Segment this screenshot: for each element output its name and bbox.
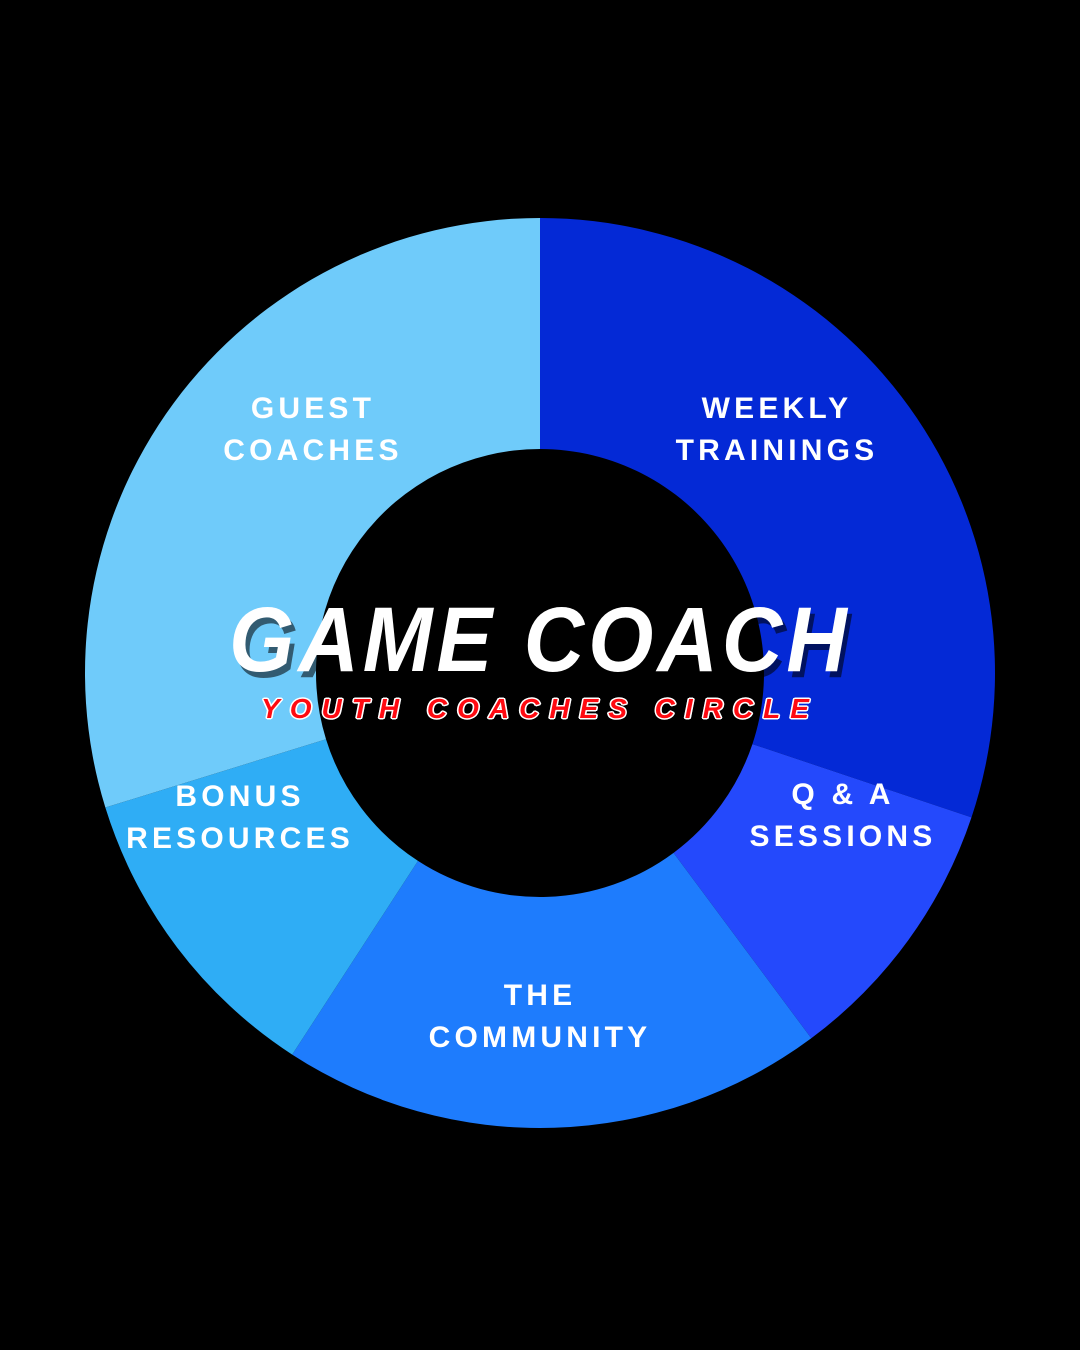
donut-slice[interactable] (85, 218, 540, 808)
donut-slice[interactable] (540, 218, 995, 817)
infographic-canvas: WEEKLYTRAININGSQ & ASESSIONSTHECOMMUNITY… (0, 0, 1080, 1350)
donut-chart: WEEKLYTRAININGSQ & ASESSIONSTHECOMMUNITY… (0, 0, 1080, 1350)
